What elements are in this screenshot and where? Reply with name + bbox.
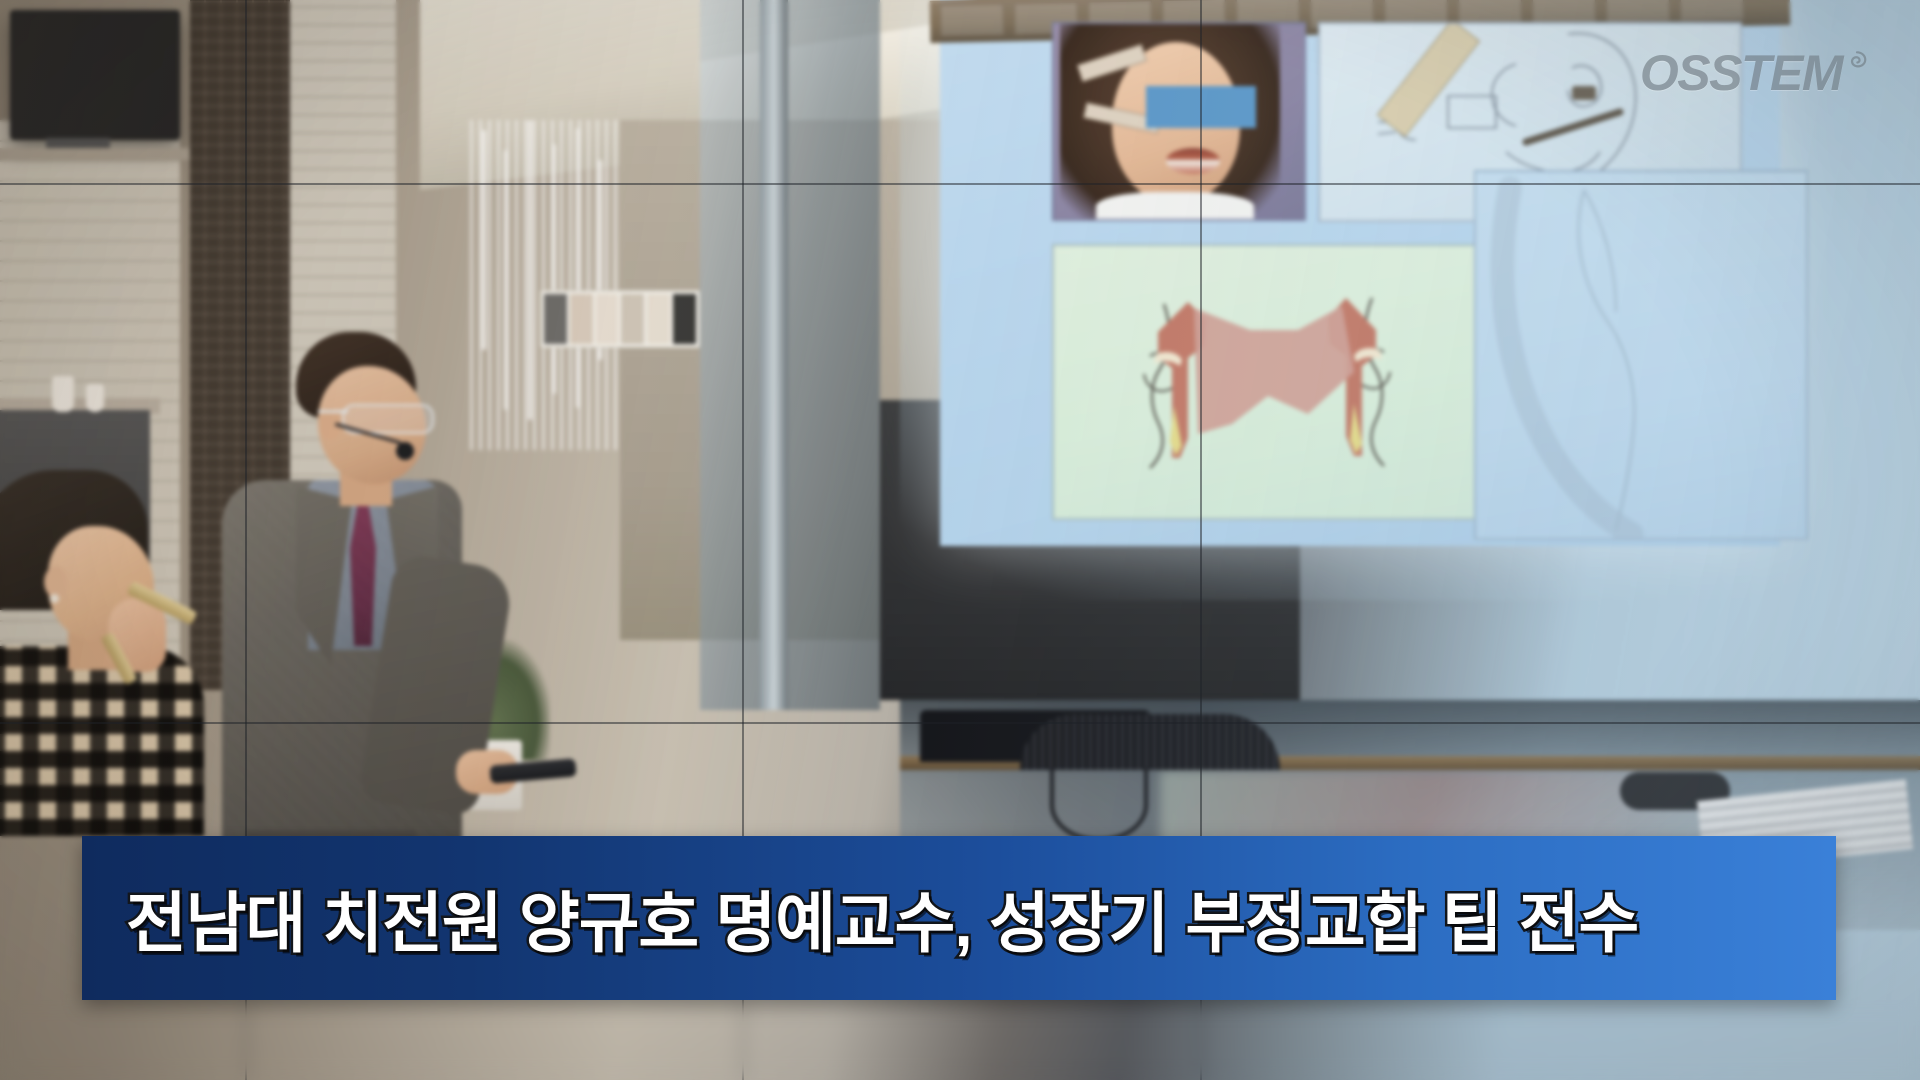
caption-lower-third: 전남대 치전원 양규호 명예교수, 성장기 부정교합 팁 전수 [82,836,1836,1000]
caption-text: 전남대 치전원 양규호 명예교수, 성장기 부정교합 팁 전수 [126,870,1638,966]
guide-line-horizontal-bottom [0,722,1920,724]
video-frame: CNUH PEDO [0,0,1920,1080]
osstem-watermark: OSSTEM [1640,48,1868,98]
guide-line-horizontal-top [0,183,1920,185]
bottom-blur-strip [0,1000,1920,1080]
osstem-wordmark: OSSTEM [1640,48,1842,98]
swirl-mark-icon [1846,50,1868,72]
